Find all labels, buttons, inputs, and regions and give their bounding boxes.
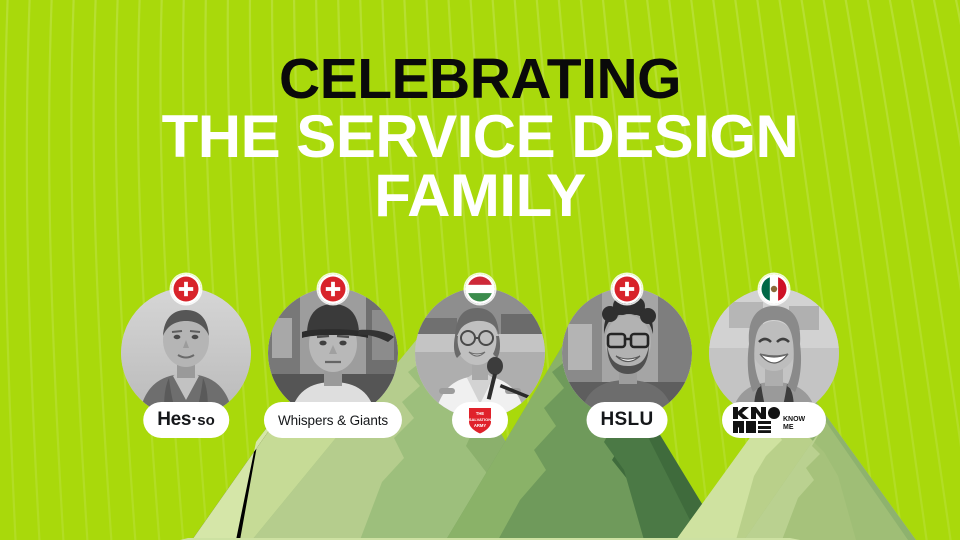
svg-text:SALVATION: SALVATION (469, 417, 491, 422)
speaker-card-2[interactable]: Whispers & Giants (268, 276, 398, 436)
svg-text:KNOW: KNOW (783, 416, 806, 423)
headline-line-1: CELEBRATING (0, 52, 960, 108)
headline-line-2: THE SERVICE DESIGN (0, 108, 960, 167)
avatar (121, 288, 251, 418)
svg-text:ME: ME (783, 424, 794, 431)
salvation-army-logo: THE SALVATION ARMY The Salvation Army (452, 402, 508, 438)
speaker-card-1[interactable]: Hes·so (121, 276, 251, 436)
salvation-army-shield-icon: THE SALVATION ARMY (466, 405, 494, 435)
switzerland-flag-icon (171, 274, 201, 304)
svg-text:ARMY: ARMY (474, 423, 487, 428)
hes-so-logo-text: Hes·so (157, 409, 215, 431)
hungary-flag-icon (465, 274, 495, 304)
avatar (268, 288, 398, 418)
whispers-and-giants-logo: Whispers & Giants (264, 402, 402, 438)
headline-line-3: FAMILY (0, 167, 960, 226)
mexico-flag-icon (759, 274, 789, 304)
speakers-row: Hes·so (0, 276, 960, 436)
slide-canvas: CELEBRATING THE SERVICE DESIGN FAMILY (0, 0, 960, 540)
avatar (415, 288, 545, 418)
whispers-and-giants-logo-text: Whispers & Giants (278, 413, 388, 428)
switzerland-flag-icon (318, 274, 348, 304)
headline-block: CELEBRATING THE SERVICE DESIGN FAMILY (0, 52, 960, 225)
know-me-logo: KNOW ME KNOW ME (722, 402, 826, 438)
switzerland-flag-icon (612, 274, 642, 304)
hslu-logo: HSLU (587, 402, 668, 438)
hslu-logo-text: HSLU (601, 409, 654, 431)
hes-so-logo: Hes·so (143, 402, 229, 438)
avatar (562, 288, 692, 418)
avatar (709, 288, 839, 418)
svg-text:THE: THE (476, 411, 485, 416)
know-me-monogram-icon: KNOW ME (733, 407, 815, 433)
speaker-card-5[interactable]: KNOW ME KNOW ME (709, 276, 839, 436)
speaker-card-4[interactable]: HSLU (562, 276, 692, 436)
speaker-card-3[interactable]: THE SALVATION ARMY The Salvation Army (415, 276, 545, 436)
